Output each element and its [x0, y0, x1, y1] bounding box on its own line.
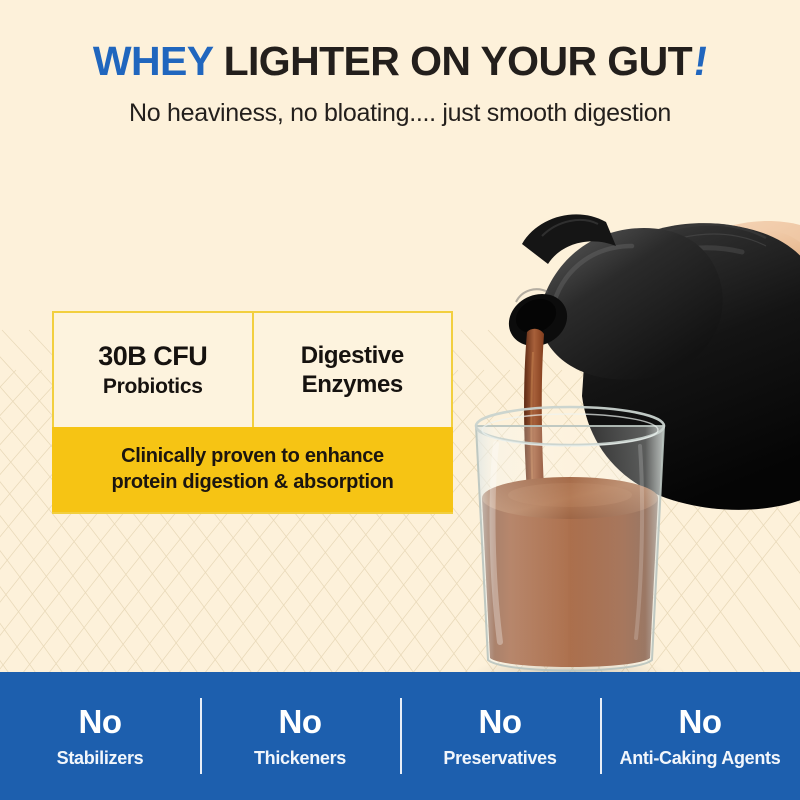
- claim-label: Preservatives: [443, 749, 556, 767]
- feature-title-probiotics: 30B CFU: [98, 341, 207, 371]
- claim-prefix: No: [279, 705, 322, 738]
- claim-prefix: No: [79, 705, 122, 738]
- claim-item-preservatives: No Preservatives: [400, 672, 600, 800]
- headline-accent-word: WHEY: [93, 38, 213, 84]
- claim-prefix: No: [479, 705, 522, 738]
- headline: WHEY LIGHTER ON YOUR GUT!: [0, 40, 800, 83]
- bottle-cap: [538, 228, 723, 380]
- feature-subtitle-enzymes: Enzymes: [302, 370, 403, 399]
- feature-banner-line-2: protein digestion & absorption: [111, 470, 393, 496]
- feature-banner-line-1: Clinically proven to enhance: [121, 444, 384, 470]
- glass-of-chocolate-shake: [476, 407, 664, 671]
- claim-label: Stabilizers: [57, 749, 144, 767]
- claim-item-anti-caking-agents: No Anti-Caking Agents: [600, 672, 800, 800]
- feature-column-enzymes: Digestive Enzymes: [254, 313, 452, 427]
- claim-item-stabilizers: No Stabilizers: [0, 672, 200, 800]
- claims-bar: No Stabilizers No Thickeners No Preserva…: [0, 672, 800, 800]
- feature-subtitle-probiotics: Probiotics: [103, 375, 203, 399]
- feature-column-probiotics: 30B CFU Probiotics: [54, 313, 254, 427]
- claim-label: Anti-Caking Agents: [620, 749, 781, 767]
- feature-banner: Clinically proven to enhance protein dig…: [52, 427, 453, 512]
- headline-exclamation: !: [691, 40, 711, 83]
- feature-title-enzymes: Digestive: [301, 341, 404, 370]
- subheadline: No heaviness, no bloating.... just smoot…: [0, 99, 800, 128]
- feature-card: 30B CFU Probiotics Digestive Enzymes Cli…: [52, 311, 453, 514]
- feature-card-columns: 30B CFU Probiotics Digestive Enzymes: [54, 313, 451, 427]
- product-photo: [430, 180, 800, 680]
- headline-block: WHEY LIGHTER ON YOUR GUT! No heaviness, …: [0, 40, 800, 128]
- headline-rest: LIGHTER ON YOUR GUT: [224, 38, 692, 84]
- claim-label: Thickeners: [254, 749, 346, 767]
- claim-item-thickeners: No Thickeners: [200, 672, 400, 800]
- claim-prefix: No: [679, 705, 722, 738]
